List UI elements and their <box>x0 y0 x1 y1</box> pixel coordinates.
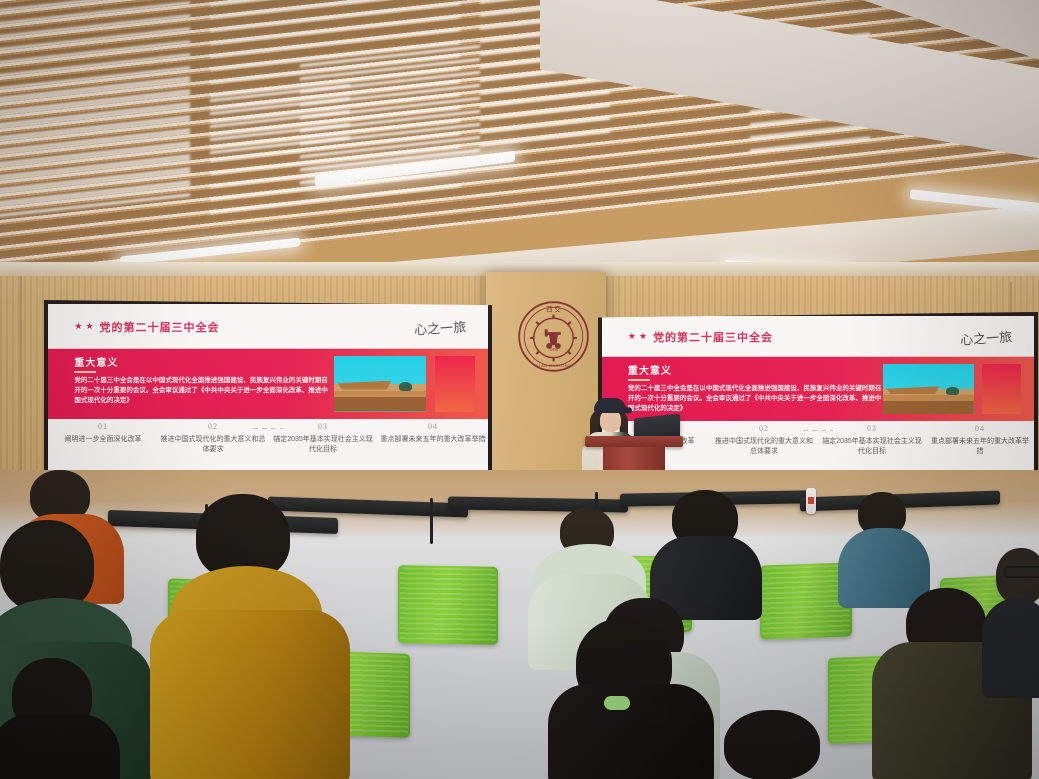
slide-column-text: 重点部署未来五年的重大改革举措 <box>380 435 486 445</box>
slide-column-number: 01 <box>50 422 156 431</box>
star-icon: ★ <box>639 332 647 341</box>
slide-band-heading: 重大意义 <box>74 354 334 373</box>
slide-red-band: 重大意义 党的二十届三中全会是在以中国式现代化全面推进强国建设、民族复兴伟业的关… <box>602 357 1034 421</box>
hair-tie <box>604 696 630 710</box>
slide-color-swatch <box>982 364 1021 414</box>
slide-red-band: 重大意义 党的二十届三中全会是在以中国式现代化全面推进强国建设、民族复兴伟业的关… <box>48 349 488 419</box>
lecture-hall-photo: 西 交 1896 XI'AN JIAOTONG ★ ★ 党的第二十届三中全会 心… <box>0 0 1039 779</box>
slide-photo <box>334 356 426 412</box>
slide-band-text: 重大意义 党的二十届三中全会是在以中国式现代化全面推进强国建设、民族复兴伟业的关… <box>48 349 334 419</box>
slide-color-swatch <box>435 356 475 412</box>
slide-band-body: 党的二十届三中全会是在以中国式现代化全面推进强国建设、民族复兴伟业的关键时期召开… <box>628 384 883 413</box>
slide-column-text: 重点部署未来五年的重大改革举措 <box>928 437 1032 457</box>
linear-led-3-icon <box>910 189 1039 213</box>
slide-photo <box>883 364 974 414</box>
xi-an-jiaotong-university-crest-icon: 西 交 1896 XI'AN JIAOTONG <box>517 300 590 373</box>
star-icon: ★ <box>74 322 82 331</box>
auditorium-chair[interactable] <box>398 565 498 645</box>
slide-column-text: 阐明进一步全面深化改革 <box>50 435 156 445</box>
slide-band-heading: 重大意义 <box>628 362 883 381</box>
slide-column-number: 04 <box>380 422 486 431</box>
slide-header: ★ ★ 党的第二十届三中全会 心之一旅 <box>602 316 1034 357</box>
roof-shape <box>338 381 392 390</box>
star-icon: ★ <box>628 332 636 341</box>
star-icon: ★ <box>85 322 93 331</box>
slide-column-text: 锚定2035年基本实现社会主义现代化目标 <box>820 437 924 457</box>
slide-title: 党的第二十届三中全会 <box>100 319 220 335</box>
slide-band-body: 党的二十届三中全会是在以中国式现代化全面推进强国建设、民族复兴伟业的关键时期召开… <box>74 376 334 405</box>
glasses-icon <box>1004 566 1039 578</box>
roof-shape <box>886 386 939 394</box>
slide-column-number: 03 <box>270 422 376 431</box>
audience-area <box>0 470 1039 779</box>
chair-frame <box>430 498 433 544</box>
slide-column-number: 02 <box>160 422 266 431</box>
slide-column-number: 03 <box>820 424 924 433</box>
slide-stars: ★ ★ <box>74 322 93 331</box>
svg-text:1896: 1896 <box>549 347 559 352</box>
slide-band-text: 重大意义 党的二十届三中全会是在以中国式现代化全面推进强国建设、民族复兴伟业的关… <box>602 357 883 421</box>
slide-header: ★ ★ 党的第二十届三中全会 心之一旅 <box>48 304 488 349</box>
presenter-face <box>600 410 621 432</box>
slide-stars: ★ ★ <box>628 332 647 341</box>
tree-shape <box>399 382 412 391</box>
water-bottle[interactable] <box>806 488 816 514</box>
slide-column-text: 锚定2035年基本实现社会主义现代化目标 <box>270 435 376 455</box>
slide-column-number: 02 <box>712 424 816 433</box>
slide-column-number: 04 <box>928 424 1032 433</box>
slide-calligraphy: 心之一旅 <box>413 316 466 339</box>
svg-text:XI'AN JIAOTONG: XI'AN JIAOTONG <box>536 363 572 368</box>
lectern-top <box>585 436 683 447</box>
slide-calligraphy: 心之一旅 <box>960 327 1013 350</box>
slide-title: 党的第二十届三中全会 <box>653 329 773 345</box>
svg-text:西 交: 西 交 <box>546 305 561 314</box>
slide-column-text: 推进中国式现代化的重大意义和总体要求 <box>712 437 816 457</box>
presenter-cap <box>594 398 626 413</box>
tree-shape <box>946 387 959 395</box>
slide-column-text: 推进中国式现代化的重大意义和总体要求 <box>160 435 266 455</box>
